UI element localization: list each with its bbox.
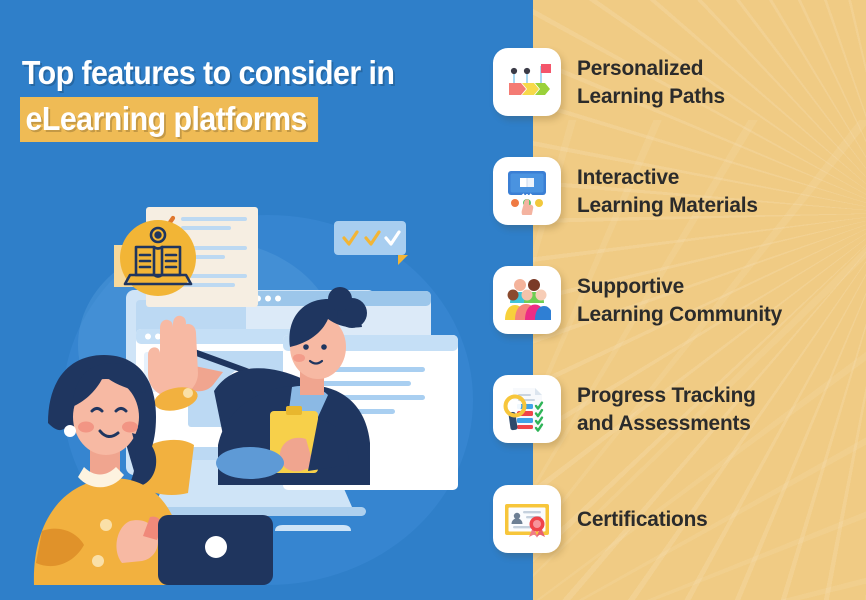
feature-item-progress-tracking[interactable]: Progress Tracking and Assessments (493, 375, 761, 443)
feature-item-personalized-learning-paths[interactable]: Personalized Learning Paths (493, 48, 730, 116)
laptop (158, 515, 273, 585)
feature-list: Personalized Learning Paths (493, 0, 866, 600)
elearning-classroom-illustration (18, 195, 518, 585)
feature-item-certifications[interactable]: Certifications (493, 485, 712, 553)
community-people-group-icon (493, 266, 561, 334)
certificate-ribbon-icon (493, 485, 561, 553)
feature-item-supportive-learning-community[interactable]: Supportive Learning Community (493, 266, 788, 334)
feature-label: Supportive Learning Community (577, 272, 782, 329)
learning-path-roadmap-icon (493, 48, 561, 116)
open-book-laptop-gear-badge (120, 220, 196, 296)
page-title: Top features to consider in eLearning pl… (20, 54, 429, 142)
feature-label: Certifications (577, 505, 708, 533)
title-line-1: Top features to consider in (20, 54, 396, 95)
feature-label: Personalized Learning Paths (577, 54, 725, 111)
checklist-magnifier-icon (493, 375, 561, 443)
title-line-2: eLearning platforms (20, 97, 318, 142)
feature-label: Progress Tracking and Assessments (577, 381, 756, 438)
infographic-canvas: Top features to consider in eLearning pl… (0, 0, 866, 600)
interactive-board-book-icon (493, 157, 561, 225)
feature-label: Interactive Learning Materials (577, 163, 758, 220)
feature-item-interactive-learning-materials[interactable]: Interactive Learning Materials (493, 157, 763, 225)
